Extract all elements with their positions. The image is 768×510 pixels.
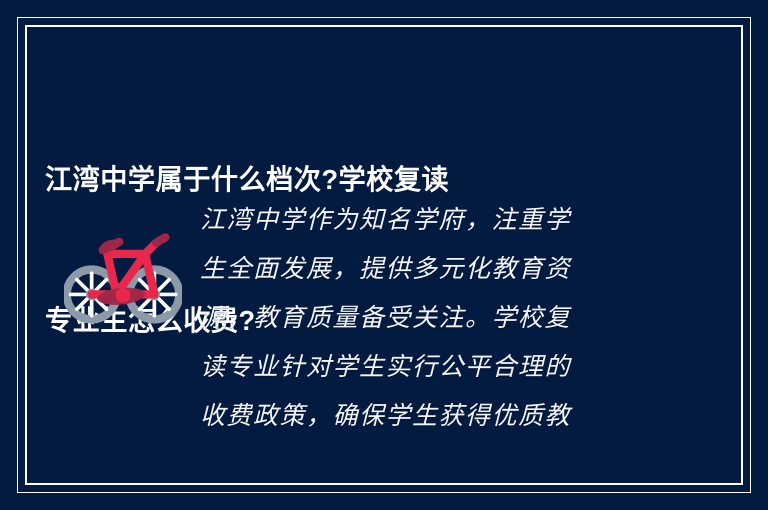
bicycle-icon: [64, 217, 182, 335]
article-body-line-4: 读专业针对学生实行公平合理的: [200, 342, 723, 391]
article-body-line-5: 收费政策，确保学生获得优质教: [200, 391, 723, 440]
content-row: 江湾中学作为知名学府，注重学 生全面发展，提供多元化教育资 源，教育质量备受关注…: [45, 195, 723, 440]
poster-canvas: 江湾中学属于什么档次?学校复读 专业生怎么收费?: [0, 0, 768, 510]
article-body: 江湾中学作为知名学府，注重学 生全面发展，提供多元化教育资 源，教育质量备受关注…: [200, 195, 723, 440]
illustration-container: [45, 195, 200, 335]
article-body-line-3: 源，教育质量备受关注。学校复: [200, 293, 723, 342]
article-body-line-2: 生全面发展，提供多元化教育资: [200, 244, 723, 293]
article-body-line-1: 江湾中学作为知名学府，注重学: [200, 195, 723, 244]
